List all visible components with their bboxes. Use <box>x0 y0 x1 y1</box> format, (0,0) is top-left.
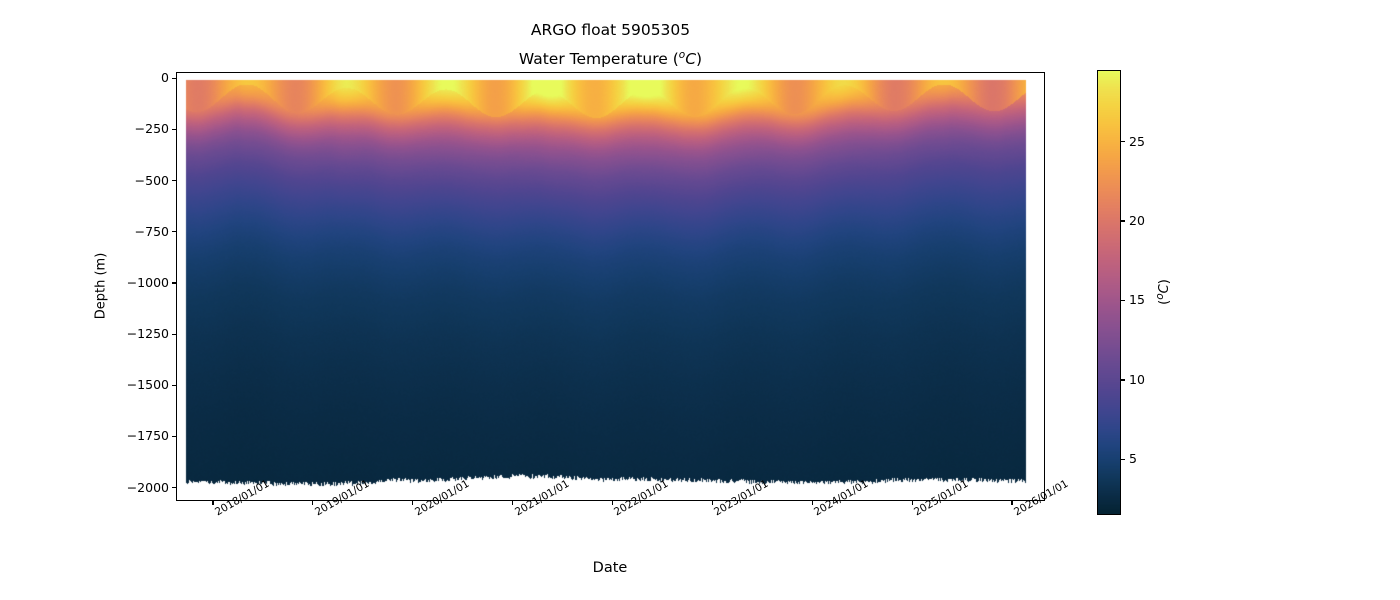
y-tick-mark <box>172 231 176 232</box>
x-tick-mark <box>1011 501 1012 505</box>
colorbar-tick-mark <box>1121 141 1125 142</box>
x-tick-mark <box>212 501 213 505</box>
y-tick-mark <box>172 180 176 181</box>
y-tick-mark <box>172 385 176 386</box>
colorbar-label-prefix: ( <box>1157 300 1172 305</box>
colorbar-unit-letter: C <box>1157 284 1172 293</box>
colorbar-gradient <box>1098 71 1120 514</box>
x-tick-label: 2022/01/01 <box>612 508 618 518</box>
y-tick-label: 0 <box>161 69 169 87</box>
colorbar-tick-mark <box>1121 459 1125 460</box>
colorbar-tick-label: 15 <box>1129 291 1145 309</box>
x-tick-mark <box>512 501 513 505</box>
colorbar-tick-label: 5 <box>1129 450 1137 468</box>
y-tick-label: −250 <box>135 120 169 138</box>
y-tick-mark <box>172 282 176 283</box>
x-tick-label: 2019/01/01 <box>313 508 319 518</box>
y-tick-label: −2000 <box>127 479 169 497</box>
temperature-heatmap <box>177 73 1044 500</box>
x-tick-mark <box>612 501 613 505</box>
x-tick-mark <box>412 501 413 505</box>
y-tick-label: −1250 <box>127 325 169 343</box>
title-line-1: ARGO float 5905305 <box>176 18 1045 43</box>
title-unit-suffix: ) <box>696 50 702 68</box>
y-tick-label: −1500 <box>127 376 169 394</box>
x-tick-label: 2018/01/01 <box>213 508 219 518</box>
colorbar-degree-symbol: o <box>1154 293 1166 299</box>
colorbar-tick-mark <box>1121 220 1125 221</box>
colorbar-label-suffix: ) <box>1157 279 1172 284</box>
colorbar-tick-mark <box>1121 300 1125 301</box>
y-tick-label: −750 <box>135 223 169 241</box>
x-tick-mark <box>812 501 813 505</box>
colorbar-tick-label: 25 <box>1129 133 1145 151</box>
title-unit-letter: C <box>685 50 696 68</box>
colorbar-tick-label: 10 <box>1129 371 1145 389</box>
y-tick-label: −1750 <box>127 427 169 445</box>
figure-canvas: ARGO float 5905305 Water Temperature (oC… <box>0 0 1400 600</box>
x-tick-label: 2026/01/01 <box>1012 508 1018 518</box>
x-axis-label: Date <box>593 560 628 576</box>
y-axis-label: Depth (m) <box>94 253 109 320</box>
colorbar[interactable] <box>1097 70 1121 515</box>
chart-title: ARGO float 5905305 Water Temperature (oC… <box>176 18 1045 72</box>
x-tick-mark <box>712 501 713 505</box>
y-tick-label: −500 <box>135 172 169 190</box>
colorbar-tick-label: 20 <box>1129 212 1145 230</box>
x-tick-label: 2024/01/01 <box>812 508 818 518</box>
colorbar-tick-mark <box>1121 379 1125 380</box>
y-tick-mark <box>172 487 176 488</box>
title-line-2: Water Temperature (oC) <box>176 43 1045 72</box>
x-tick-label: 2025/01/01 <box>912 508 918 518</box>
title-unit-prefix: Water Temperature ( <box>519 50 679 68</box>
y-tick-mark <box>172 436 176 437</box>
y-tick-mark <box>172 78 176 79</box>
colorbar-label: (oC) <box>1154 279 1172 305</box>
x-tick-mark <box>312 501 313 505</box>
x-tick-mark <box>912 501 913 505</box>
x-tick-label: 2023/01/01 <box>712 508 718 518</box>
x-tick-label: 2020/01/01 <box>413 508 419 518</box>
y-tick-label: −1000 <box>127 274 169 292</box>
y-tick-mark <box>172 129 176 130</box>
x-tick-label: 2021/01/01 <box>513 508 519 518</box>
y-tick-mark <box>172 334 176 335</box>
plot-axes[interactable] <box>176 72 1045 501</box>
